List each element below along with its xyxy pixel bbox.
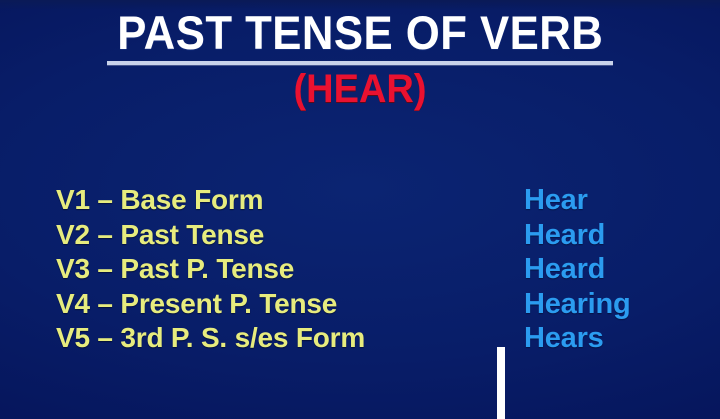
arrow-down-icon bbox=[487, 345, 515, 419]
verb-word: Hearing bbox=[524, 287, 714, 322]
verb-form-label: V5 – 3rd P. S. s/es Form bbox=[56, 321, 506, 356]
verb-form-label-column: V1 – Base Form V2 – Past Tense V3 – Past… bbox=[56, 183, 506, 356]
verb-forms-table: V1 – Base Form V2 – Past Tense V3 – Past… bbox=[0, 175, 720, 390]
verb-form-label: V2 – Past Tense bbox=[56, 218, 506, 253]
title-block: PAST TENSE OF VERB (HEAR) bbox=[0, 8, 720, 110]
verb-word: Hear bbox=[524, 183, 714, 218]
verb-word: Heard bbox=[524, 218, 714, 253]
page-title: PAST TENSE OF VERB bbox=[117, 8, 603, 58]
slide-canvas: PAST TENSE OF VERB (HEAR) V1 – Base Form… bbox=[0, 0, 720, 419]
title-underline-rule bbox=[107, 61, 613, 65]
verb-word: Hears bbox=[524, 321, 714, 356]
verb-word: Heard bbox=[524, 252, 714, 287]
verb-form-label: V4 – Present P. Tense bbox=[56, 287, 506, 322]
verb-word-column: Hear Heard Heard Hearing Hears bbox=[524, 183, 714, 356]
verb-form-label: V1 – Base Form bbox=[56, 183, 506, 218]
verb-form-label: V3 – Past P. Tense bbox=[56, 252, 506, 287]
page-subtitle: (HEAR) bbox=[18, 68, 702, 110]
